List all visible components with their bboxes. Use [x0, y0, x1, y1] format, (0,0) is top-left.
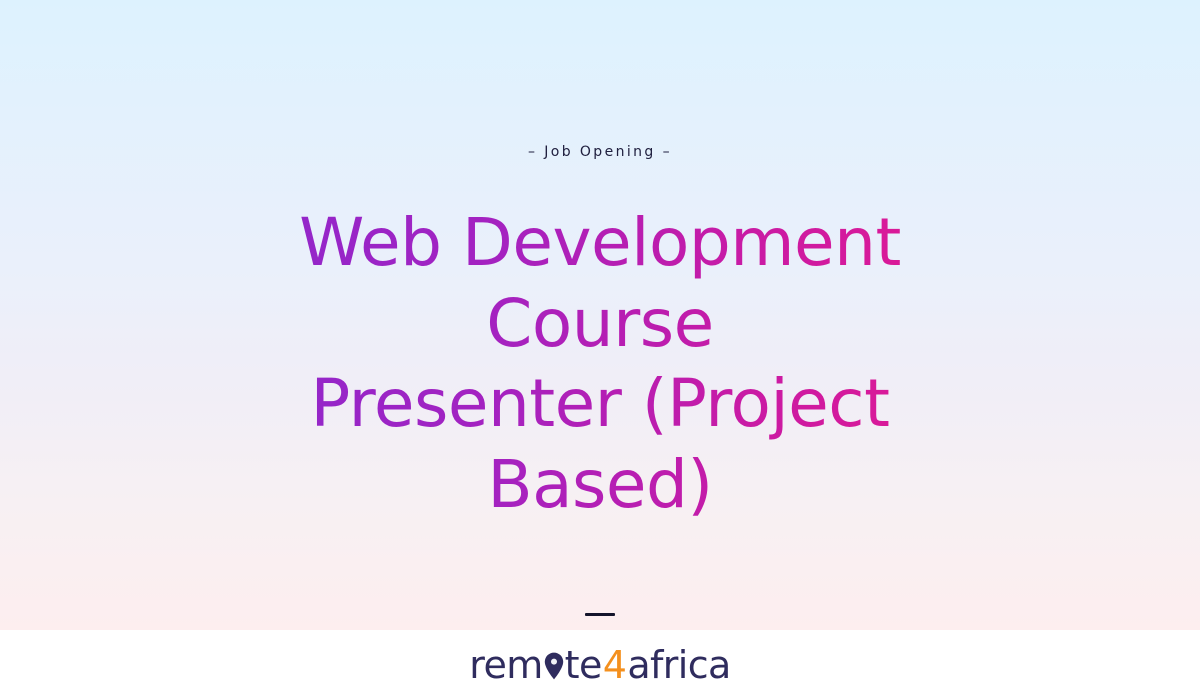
brand-logo: rem te 4 africa — [469, 646, 731, 684]
brand-logo-suffix: africa — [627, 646, 730, 684]
brand-logo-middle: te — [565, 646, 602, 684]
title-divider — [585, 613, 615, 616]
map-pin-icon — [543, 651, 565, 681]
brand-logo-prefix: rem — [469, 646, 542, 684]
brand-logo-four: 4 — [602, 646, 628, 684]
page-title-line-1: Web Development Course — [190, 203, 1010, 364]
job-opening-social-card: – Job Opening – Web Development Course P… — [0, 0, 1200, 630]
card-content: – Job Opening – Web Development Course P… — [100, 0, 1100, 684]
page-title-line-2: Presenter (Project Based) — [190, 364, 1010, 525]
page-title: Web Development Course Presenter (Projec… — [190, 203, 1010, 525]
eyebrow-label: – Job Opening – — [528, 145, 672, 159]
